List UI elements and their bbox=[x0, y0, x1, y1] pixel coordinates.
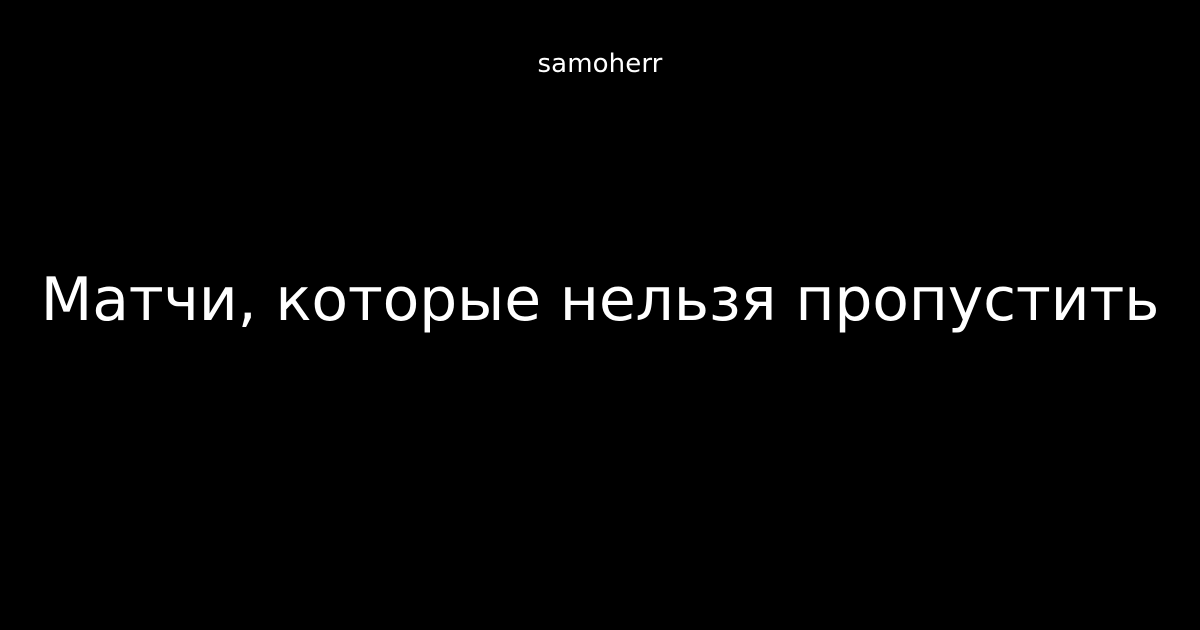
empty-lower-region bbox=[0, 470, 1200, 630]
page-title: Матчи, которые нельзя пропустить bbox=[41, 265, 1160, 336]
headline-container: Матчи, которые нельзя пропустить bbox=[0, 130, 1200, 470]
byline-container: samoherr bbox=[0, 0, 1200, 130]
author-handle: samoherr bbox=[538, 49, 663, 80]
article-share-card: samoherr Матчи, которые нельзя пропустит… bbox=[0, 0, 1200, 630]
